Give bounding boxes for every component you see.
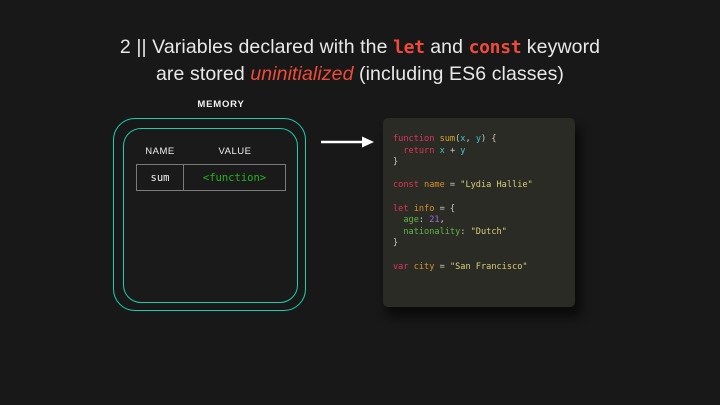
code-token: 21 <box>429 215 439 225</box>
title-line-1: 2 || Variables declared with the let and… <box>120 36 600 58</box>
code-line: var city = "San Francisco" <box>393 262 575 274</box>
code-token: "San Francisco" <box>450 262 528 272</box>
memory-table-headers: NAME VALUE <box>136 146 286 157</box>
code-token: : <box>460 227 470 237</box>
code-line: const name = "Lydia Hallie" <box>393 180 575 192</box>
title-emphasis-uninitialized: uninitialized <box>250 63 353 85</box>
code-line: let info = { <box>393 204 575 216</box>
code-token: "Dutch" <box>471 227 507 237</box>
code-token: nationality <box>393 227 460 237</box>
code-line: } <box>393 157 575 169</box>
code-token: info <box>414 204 435 214</box>
code-line: age: 21, <box>393 215 575 227</box>
code-token: } <box>393 157 398 167</box>
title-text-segment: are stored <box>156 63 250 85</box>
code-token: y <box>460 146 465 156</box>
code-token: "Lydia Hallie" <box>460 180 532 190</box>
code-token: = <box>445 180 461 190</box>
title-text-segment: and <box>425 36 469 58</box>
code-token: age <box>393 215 419 225</box>
code-token: var <box>393 262 414 272</box>
code-token: return <box>393 146 440 156</box>
code-token: = { <box>434 204 455 214</box>
code-token: } <box>393 238 398 248</box>
code-line: return x + y <box>393 146 575 158</box>
title-line-2: are stored uninitialized (including ES6 … <box>156 63 564 85</box>
title-text-segment: keyword <box>521 36 600 58</box>
code-token: let <box>393 204 414 214</box>
code-line <box>393 250 575 262</box>
title-text-segment: 2 || Variables declared with the <box>120 36 393 58</box>
code-line: nationality: "Dutch" <box>393 227 575 239</box>
flow-arrow <box>321 133 376 151</box>
code-token: city <box>414 262 435 272</box>
code-token: : <box>419 215 429 225</box>
code-token: , <box>440 215 445 225</box>
title-keyword-let: let <box>393 37 425 58</box>
code-token: name <box>424 180 445 190</box>
column-header-name: NAME <box>136 146 184 157</box>
code-token: , <box>465 134 475 144</box>
memory-table-row: sum <function> <box>136 164 286 191</box>
code-token: const <box>393 180 424 190</box>
column-header-value: VALUE <box>184 146 286 157</box>
code-line: } <box>393 238 575 250</box>
cell-variable-name: sum <box>137 165 184 190</box>
arrow-right-icon <box>321 133 376 151</box>
code-token: function <box>393 134 440 144</box>
slide-title: 2 || Variables declared with the let and… <box>0 34 720 88</box>
code-line <box>393 169 575 181</box>
code-token: = <box>434 262 450 272</box>
title-keyword-const: const <box>469 37 522 58</box>
title-text-segment: (including ES6 classes) <box>354 63 565 85</box>
code-line: function sum(x, y) { <box>393 134 575 146</box>
cell-variable-value: <function> <box>184 165 285 190</box>
code-token: ) { <box>481 134 497 144</box>
memory-label: MEMORY <box>136 99 306 110</box>
code-block: function sum(x, y) { return x + y} const… <box>383 118 575 307</box>
code-token: sum <box>440 134 456 144</box>
code-line <box>393 192 575 204</box>
code-token: + <box>445 146 461 156</box>
